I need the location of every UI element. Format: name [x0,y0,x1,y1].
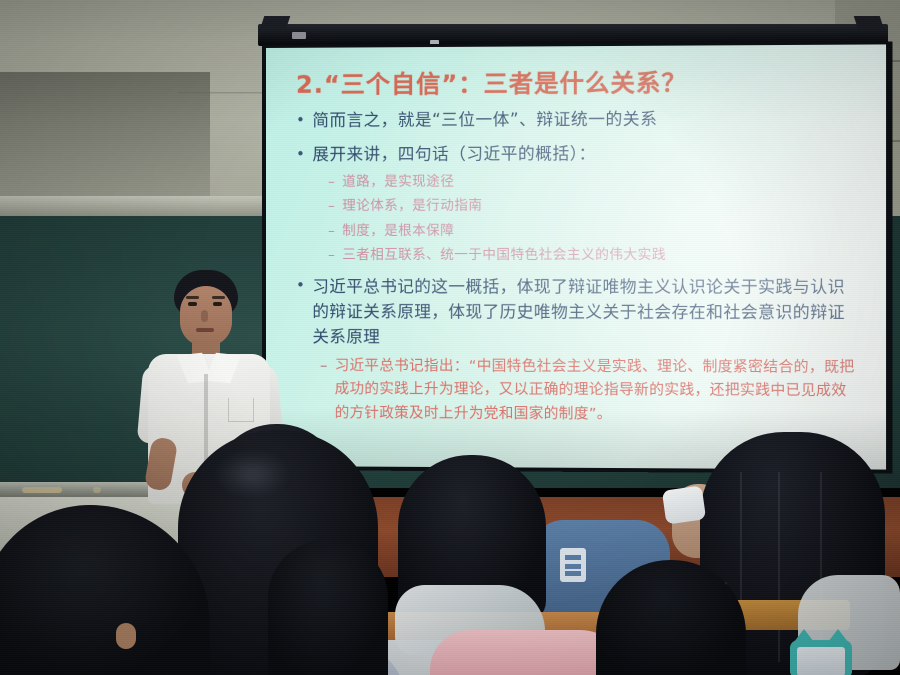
screen-bracket-right [854,16,885,30]
quote-text: 习近平总书记指出：“中国特色社会主义是实践、理论、制度紧密结合的，既把成功的实践… [335,355,860,428]
bullet-text: 简而言之，就是“三位一体”、辩证统一的关系 [312,107,859,134]
slide-bullet: • 简而言之，就是“三位一体”、辩证统一的关系 [296,107,859,134]
student-ear [116,623,136,649]
projection-surface: 2.“三个自信”：三者是什么关系？ • 简而言之，就是“三位一体”、辩证统一的关… [266,44,886,469]
phone-screen[interactable] [797,647,845,675]
student-hair [268,540,388,675]
presenter-mouth [196,328,214,332]
hair-strand [778,472,780,662]
chalk-piece [93,487,101,493]
screen-bracket-left [260,16,291,30]
cat-ear-icon [828,629,848,642]
presenter-eye [188,302,197,306]
sub-bullet-marker: – [328,196,335,217]
slide-paragraph: • 习近平总书记的这一概括，体现了辩证唯物主义认识论关于实践与认识的辩证关系原理… [296,274,859,351]
bullet-marker: • [296,109,305,132]
smartphone-cat-ear-case[interactable] [790,640,852,675]
cat-ear-icon [794,629,814,642]
projection-screen: 2.“三个自信”：三者是什么关系？ • 简而言之，就是“三位一体”、辩证统一的关… [262,41,892,473]
sub-bullet-marker: – [328,220,335,241]
slide-sub-bullet: – 制度，是根本保障 [328,220,859,241]
slide-bullet: • 展开来讲，四句话（习近平的概括）： [296,141,859,168]
bullet-text: 展开来讲，四句话（习近平的概括）： [312,141,859,168]
screen-housing-label [292,32,306,39]
presenter-brow [186,296,199,299]
sub-bullet-text: 理论体系，是行动指南 [342,196,482,217]
classroom-photo: 2.“三个自信”：三者是什么关系？ • 简而言之，就是“三位一体”、辩证统一的关… [0,0,900,675]
sub-bullet-text: 道路，是实现途径 [342,171,454,192]
slide-quote: – 习近平总书记指出：“中国特色社会主义是实践、理论、制度紧密结合的，既把成功的… [320,355,859,428]
sub-bullet-marker: – [328,171,335,192]
slide-title: 2.“三个自信”：三者是什么关系？ [296,67,859,100]
slide-content: 2.“三个自信”：三者是什么关系？ • 简而言之，就是“三位一体”、辩证统一的关… [266,44,886,469]
slide-sub-bullet: – 道路，是实现途径 [328,170,859,192]
student-hair [596,560,746,675]
shirt-graphic [560,548,586,582]
presenter-brow [212,296,225,299]
chalk-piece [22,487,62,493]
presenter-nose [201,310,208,322]
presenter-shirt-pocket [228,398,254,422]
face-mask [662,485,706,524]
paragraph-text: 习近平总书记的这一概括，体现了辩证唯物主义认识论关于实践与认识的辩证关系原理，体… [312,274,859,351]
sub-bullet-text: 制度，是根本保障 [342,220,454,241]
student-foreground-center [268,540,388,675]
presenter-eye [213,302,222,306]
sub-bullet-text: 三者相互联系、统一于中国特色社会主义的伟大实践 [342,245,666,266]
paragraph-marker: • [296,274,305,297]
student-hair [0,505,210,675]
slide-sub-bullet: – 三者相互联系、统一于中国特色社会主义的伟大实践 [328,245,859,266]
bullet-marker: • [296,143,305,166]
hair-highlight [214,450,290,498]
student-foreground-left [0,505,210,675]
slide-sub-bullet: – 理论体系，是行动指南 [328,195,859,216]
sub-bullet-marker: – [328,245,335,266]
quote-marker: – [320,355,328,379]
student-foreground-right [596,560,746,675]
